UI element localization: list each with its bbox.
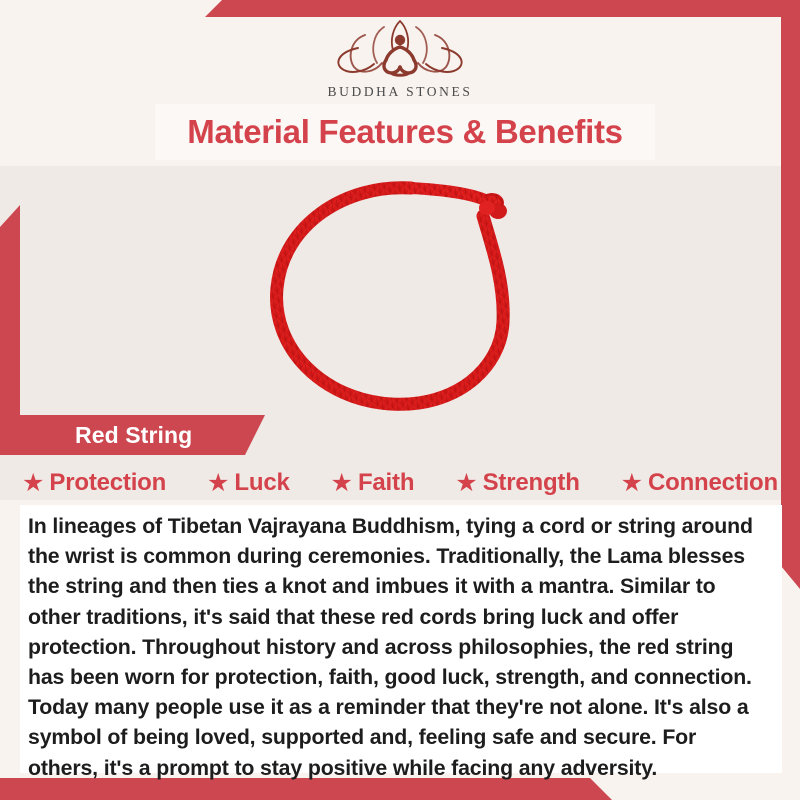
star-icon: ★	[207, 471, 229, 496]
lotus-meditation-figure-icon	[325, 18, 475, 80]
feature-label: Luck	[234, 469, 289, 497]
star-icon: ★	[22, 471, 44, 496]
feature-label: Connection	[648, 469, 778, 497]
material-name: Red String	[20, 422, 192, 449]
feature-label: Protection	[49, 469, 166, 497]
feature-item-faith: ★ Faith	[331, 469, 415, 497]
feature-item-luck: ★ Luck	[207, 469, 290, 497]
star-icon: ★	[455, 471, 477, 496]
feature-label: Strength	[483, 469, 580, 497]
red-string-bracelet-icon	[251, 172, 551, 422]
feature-label: Faith	[358, 469, 414, 497]
feature-item-protection: ★ Protection	[22, 469, 166, 497]
star-icon: ★	[621, 471, 643, 496]
page-title: Material Features & Benefits	[187, 113, 622, 151]
feature-item-strength: ★ Strength	[455, 469, 579, 497]
brand-name: BUDDHA STONES	[328, 84, 473, 100]
decor-bar-left	[0, 205, 20, 455]
description-panel: In lineages of Tibetan Vajrayana Buddhis…	[20, 505, 782, 773]
feature-list: ★ Protection ★ Luck ★ Faith ★ Strength ★…	[22, 463, 778, 503]
material-ribbon: Red String	[20, 415, 265, 455]
star-icon: ★	[331, 471, 353, 496]
title-banner: Material Features & Benefits	[155, 104, 655, 160]
brand-logo: BUDDHA STONES	[0, 18, 800, 100]
feature-item-connection: ★ Connection	[621, 469, 778, 497]
infographic-canvas: BUDDHA STONES Material Features & Benefi…	[0, 0, 800, 800]
product-image	[20, 166, 782, 428]
description-text: In lineages of Tibetan Vajrayana Buddhis…	[20, 511, 782, 783]
